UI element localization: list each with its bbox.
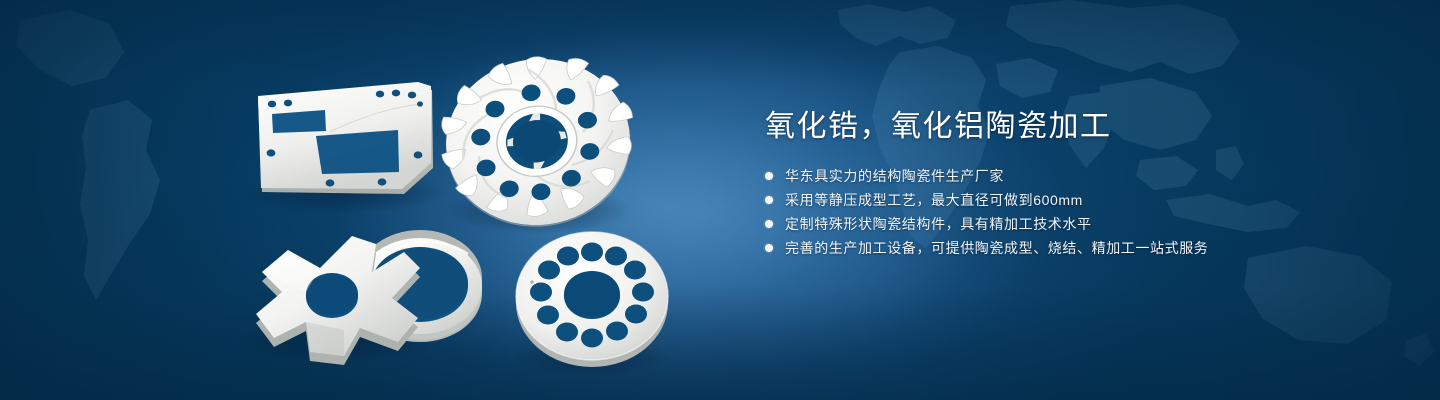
feature-text: 华东具实力的结构陶瓷件生产厂家 — [785, 168, 1004, 185]
page-title: 氧化锆，氧化铝陶瓷加工 — [765, 108, 1365, 146]
bullet-dot-icon — [765, 196, 773, 204]
list-item: 完善的生产加工设备，可提供陶瓷成型、烧结、精加工一站式服务 — [765, 240, 1365, 257]
banner-text-block: 氧化锆，氧化铝陶瓷加工 华东具实力的结构陶瓷件生产厂家 采用等静压成型工艺，最大… — [765, 108, 1365, 264]
product-photo-cluster — [0, 0, 720, 400]
list-item: 定制特殊形状陶瓷结构件，具有精加工技术水平 — [765, 216, 1365, 233]
feature-text: 完善的生产加工设备，可提供陶瓷成型、烧结、精加工一站式服务 — [785, 240, 1208, 257]
list-item: 华东具实力的结构陶瓷件生产厂家 — [765, 168, 1365, 185]
bullet-dot-icon — [765, 244, 773, 252]
feature-text: 采用等静压成型工艺，最大直径可做到600mm — [785, 192, 1083, 209]
bullet-dot-icon — [765, 172, 773, 180]
list-item: 采用等静压成型工艺，最大直径可做到600mm — [765, 192, 1365, 209]
hero-banner: 氧化锆，氧化铝陶瓷加工 华东具实力的结构陶瓷件生产厂家 采用等静压成型工艺，最大… — [0, 0, 1440, 400]
bullet-dot-icon — [765, 220, 773, 228]
feature-list: 华东具实力的结构陶瓷件生产厂家 采用等静压成型工艺，最大直径可做到600mm 定… — [765, 168, 1365, 257]
product-ceramic-valve-plate — [516, 232, 668, 367]
feature-text: 定制特殊形状陶瓷结构件，具有精加工技术水平 — [785, 216, 1092, 233]
product-ceramic-mounting-plate — [258, 82, 433, 194]
